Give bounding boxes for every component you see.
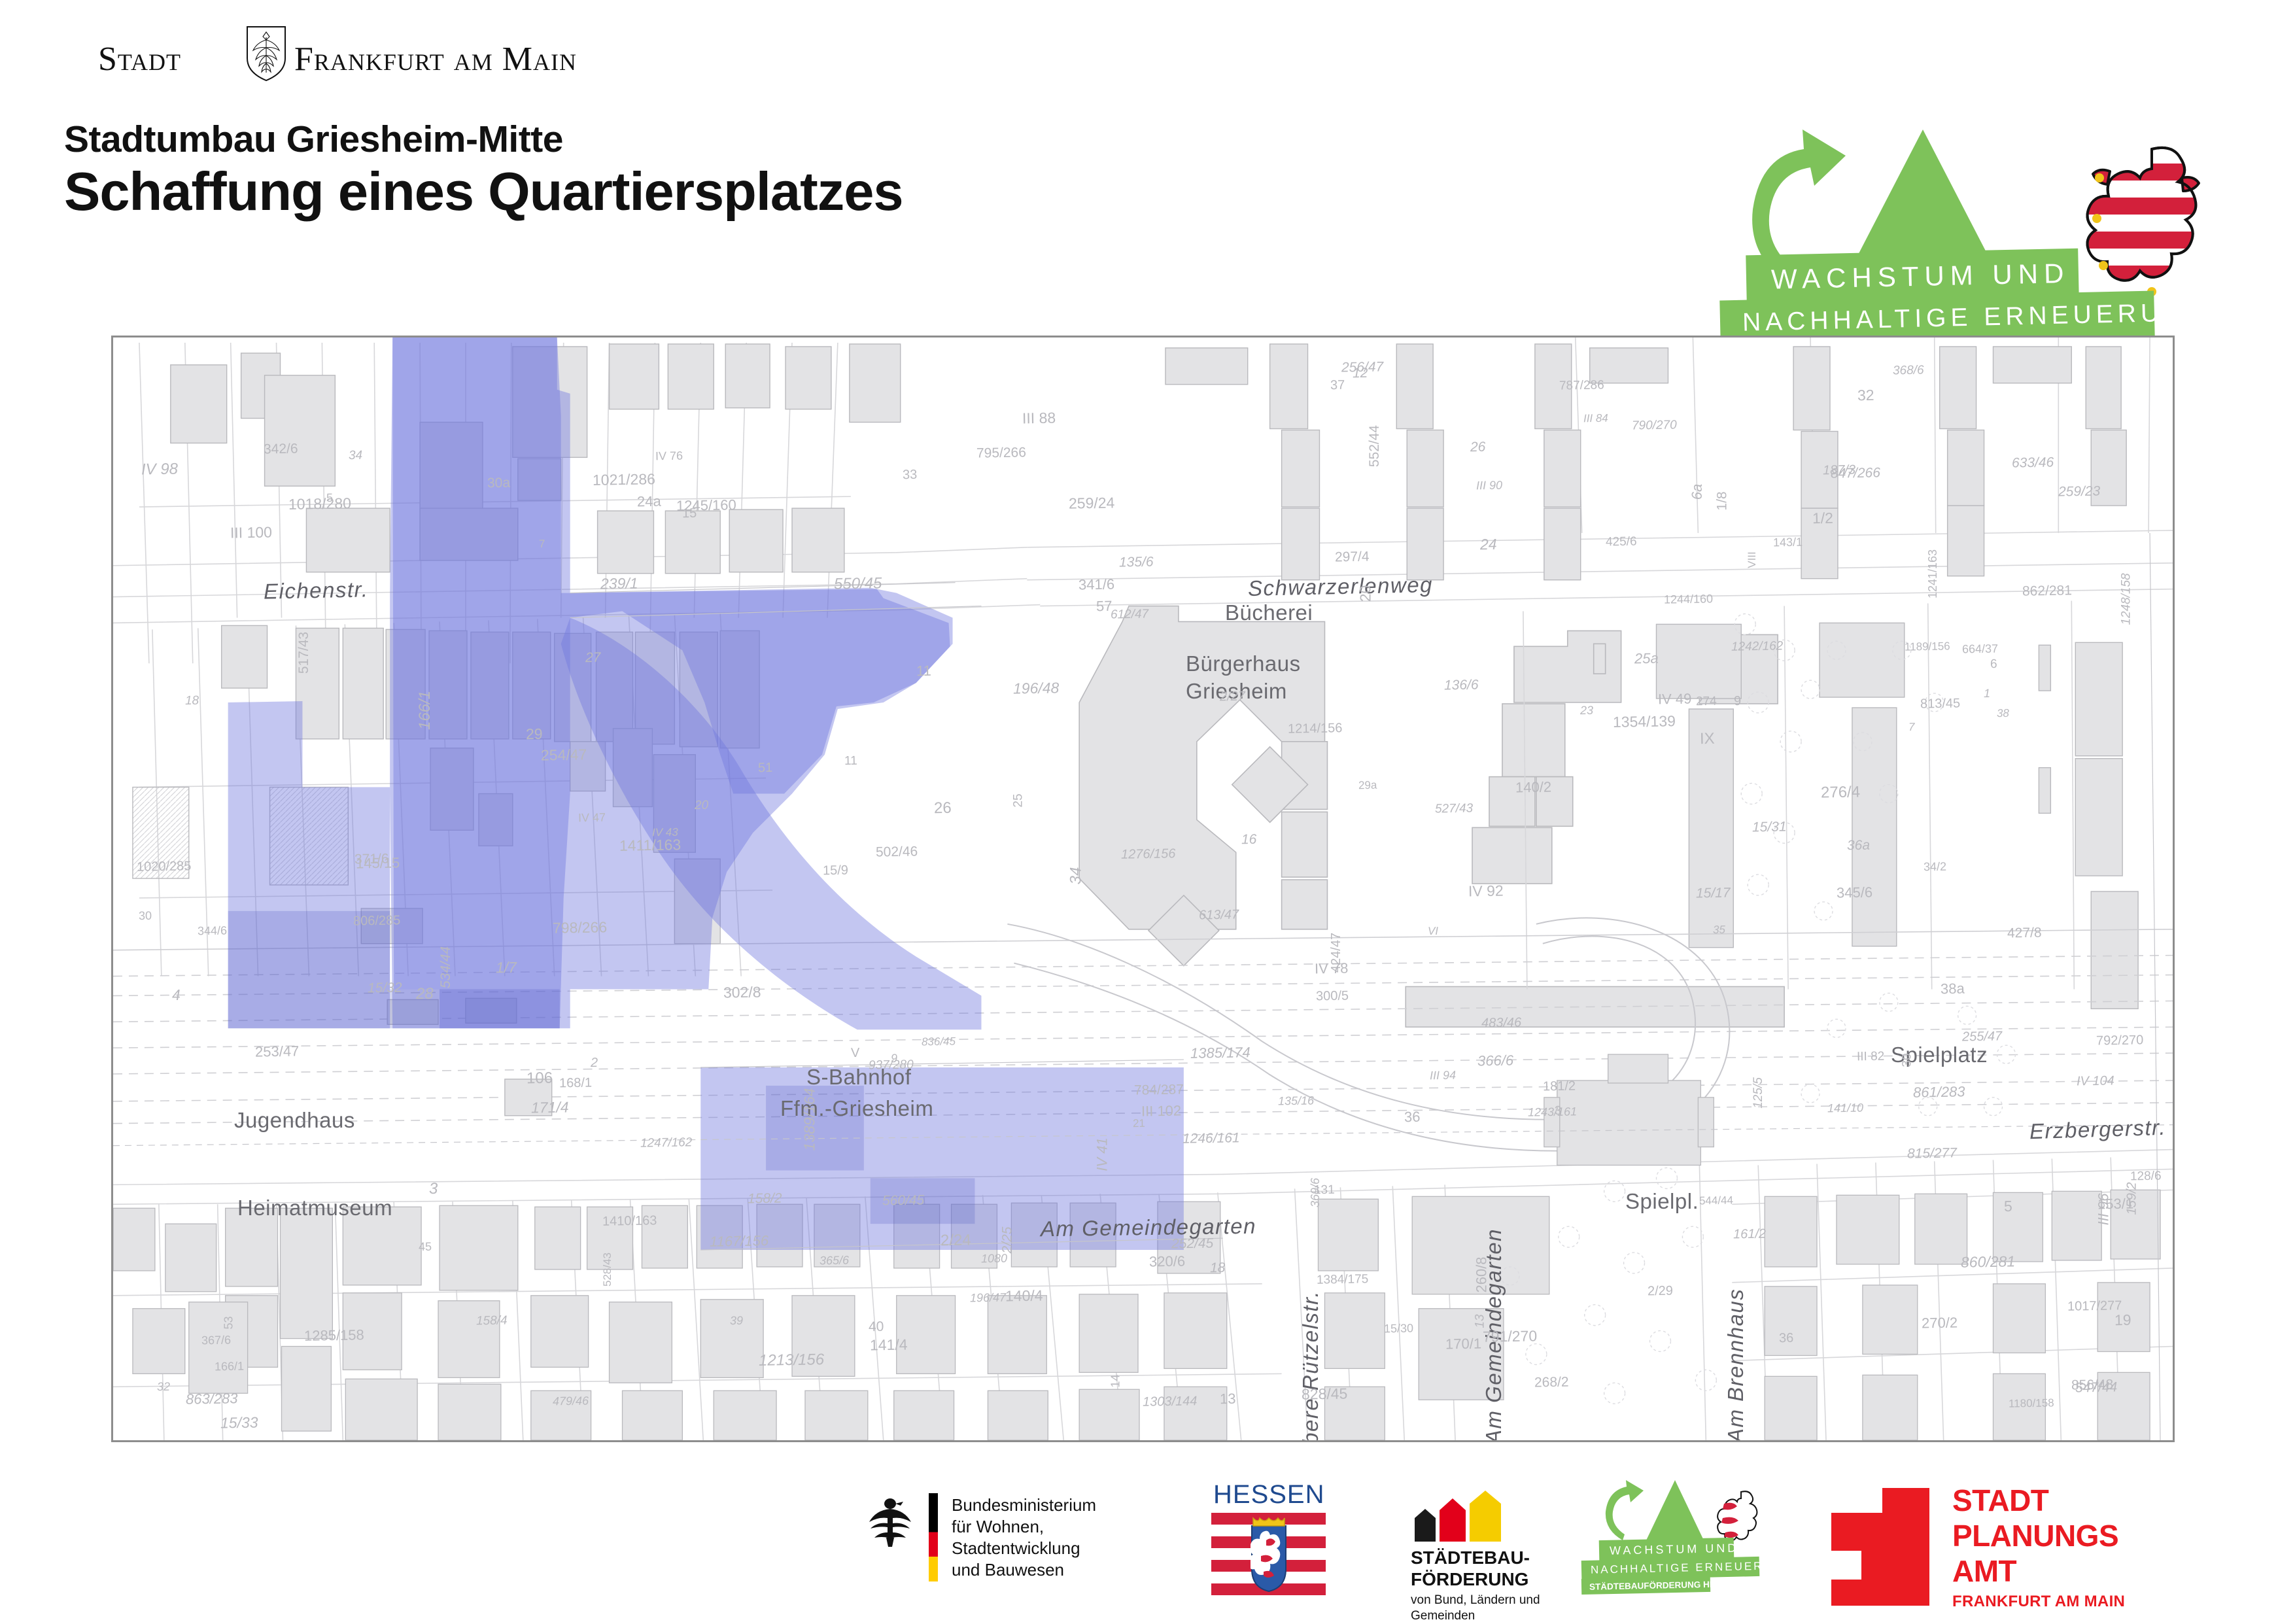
spa-line-1: STADT [1952, 1483, 2118, 1518]
parcel-number: 38a [1941, 980, 1965, 998]
parcel-number: III 84 [1583, 412, 1608, 426]
page-title: Schaffung eines Quartiersplatzes [64, 160, 903, 223]
parcel-number: 1276/156 [1121, 846, 1176, 862]
parcel-number: IV 104 [2077, 1073, 2114, 1089]
parcel-number: IV 47 [578, 811, 606, 825]
bmwsb-line-3: und Bauwesen [952, 1559, 1174, 1581]
parcel-number: 863/283 [186, 1390, 238, 1408]
parcel-number: 36a [1847, 838, 1870, 854]
hessen-lion-shield-icon [1251, 1515, 1287, 1593]
parcel-number: 30 [1901, 1053, 1915, 1067]
place-label-heimatmuseum: Heimatmuseum [237, 1196, 392, 1220]
stadtplanungsamt-mark-icon [1831, 1488, 1929, 1606]
parcel-number: 34 [349, 449, 363, 463]
parcel-number: 9 [891, 1052, 897, 1065]
parcel-number: 26 [1470, 440, 1486, 455]
parcel-number: 784/287 [1134, 1082, 1184, 1098]
parcel-number: 860/281 [1961, 1253, 2016, 1271]
parcel-number: 1017/277 [2067, 1298, 2122, 1314]
parcel-number: 143/1 [1773, 536, 1803, 550]
bmwsb-line-1: Bundesministerium [952, 1494, 1174, 1516]
sbf-line-4: Gemeinden [1411, 1608, 1540, 1624]
parcel-number: 302/8 [723, 983, 761, 1001]
parcel-number: 2 [591, 1056, 598, 1071]
green-badge-line-3: STÄDTEBAUFÖRDERUNG HESSEN [1581, 1576, 1710, 1595]
parcel-number: 254/47 [541, 746, 587, 764]
street-label-eichenstr: Eichenstr. [264, 577, 369, 604]
parcel-number: 15/32 [368, 980, 402, 997]
parcel-number: 341/6 [1078, 576, 1115, 594]
parcel-number: 170/1 [1445, 1336, 1482, 1353]
parcel-number: 140/2 [1515, 779, 1552, 797]
parcel-number: 30a [487, 475, 510, 492]
page-subtitle: Stadtumbau Griesheim-Mitte [64, 118, 563, 161]
parcel-number: 196/48 [1013, 679, 1060, 697]
parcel-number: 270/2 [1922, 1315, 1958, 1332]
parcel-number: 158/2 [748, 1191, 782, 1207]
hessen-logo: HESSEN [1210, 1475, 1334, 1622]
parcel-number: 255/47 [1962, 1029, 2003, 1045]
parcel-number: 166/1 [215, 1360, 244, 1374]
stadt-frankfurt-logo: Stadt Frankfurt am Main [98, 36, 517, 82]
parcel-number: 181/2 [1543, 1079, 1576, 1095]
parcel-number: 33 [903, 468, 918, 483]
parcel-number: 23 [1580, 704, 1593, 717]
parcel-number: 34 [1067, 867, 1085, 885]
parcel-number: IV 98 [141, 460, 179, 479]
hessen-wordmark: HESSEN [1213, 1480, 1325, 1510]
three-houses-icon [1411, 1489, 1502, 1542]
parcel-number: 790/270 [1632, 418, 1677, 433]
parcel-number: 20 [695, 799, 709, 813]
parcel-number: 39 [730, 1314, 743, 1328]
parcel-number: 633/46 [2012, 455, 2054, 471]
parcel-number: 131 [1314, 1183, 1335, 1198]
parcel-number: 365/6 [820, 1254, 849, 1268]
parcel-number: 32 [1857, 387, 1874, 404]
spa-line-3: AMT [1952, 1553, 2118, 1589]
parcel-number: 815/277 [1907, 1145, 1957, 1162]
spa-line-2: PLANUNGS [1952, 1518, 2118, 1553]
parcel-number: 3 [429, 1180, 438, 1198]
parcel-number: 502/46 [876, 844, 918, 860]
parcel-number: 787/286 [1559, 378, 1604, 393]
parcel-number: 11 [916, 663, 931, 680]
parcel-number: 1385/174 [1190, 1044, 1251, 1062]
spa-title: STADT PLANUNGS AMT [1952, 1483, 2118, 1589]
parcel-number: 479/46 [553, 1394, 589, 1409]
bundesadler-icon [867, 1494, 914, 1555]
parcel-number: 260/8 [1474, 1256, 1491, 1292]
parcel-number: 128/6 [2130, 1169, 2162, 1184]
parcel-number: 552/44 [1367, 425, 1383, 467]
bmwsb-text: Bundesministerium für Wohnen, Stadtentwi… [952, 1494, 1174, 1581]
parcel-number: 791/270 [1483, 1327, 1538, 1345]
parcel-number: 6a [1689, 484, 1706, 500]
parcel-number: 34/2 [1924, 860, 1946, 874]
parcel-number: III 100 [230, 523, 272, 542]
parcel-number: 368/6 [1893, 364, 1924, 379]
parcel-number: 4 [172, 986, 181, 1004]
frankfurt-eagle-crest-icon [243, 24, 289, 83]
parcel-number: 1389/164 [801, 1088, 818, 1151]
parcel-number: 1167/156 [710, 1232, 769, 1251]
parcel-number: IV 41 [1094, 1137, 1111, 1171]
parcel-number: 15/30 [1384, 1322, 1413, 1336]
parcel-number: 268/2 [1534, 1375, 1569, 1391]
parcel-number: 7 [1908, 721, 1915, 734]
parcel-number: 252/45 [1171, 1235, 1214, 1252]
parcel-number: 259/24 [1069, 494, 1115, 512]
parcel-number: 135/6 [1119, 555, 1154, 571]
parcel-number: 483/46 [1481, 1015, 1522, 1031]
place-label-jugendhaus: Jugendhaus [234, 1108, 355, 1133]
parcel-number: 1/2 [1812, 510, 1833, 528]
street-label-am-brennhaus: Am Brennhaus [1723, 1288, 1748, 1442]
parcel-number: 5 [2004, 1198, 2012, 1215]
parcel-number: 1214/156 [1288, 721, 1343, 736]
parcel-number: 35 [1713, 924, 1725, 937]
parcel-number: 1021/286 [593, 470, 655, 489]
parcel-number: 1080 [981, 1252, 1007, 1266]
parcel-number: 1247/162 [640, 1135, 693, 1150]
parcel-number: 528/43 [601, 1253, 614, 1287]
parcel-number: 24a [637, 493, 661, 511]
parcel-number: 13 [1220, 1391, 1236, 1408]
parcel-number: 40 [869, 1319, 884, 1335]
bundesministerium-logo: Bundesministerium für Wohnen, Stadtentwi… [867, 1475, 1174, 1622]
parcel-number: 861/283 [1913, 1083, 1965, 1101]
parcel-number: 613/47 [1199, 907, 1239, 923]
parcel-number: 1180/158 [2009, 1396, 2054, 1410]
parcel-number: 15 [682, 506, 697, 521]
parcel-number: 25 [1012, 793, 1026, 807]
spa-sub: FRANKFURT AM MAIN [1952, 1593, 2125, 1611]
sbf-line-2: FÖRDERUNG [1411, 1568, 1530, 1590]
parcel-number: 424/47 [1329, 933, 1344, 973]
place-label-buergerhaus: Bürgerhaus [1186, 651, 1301, 676]
parcel-number: 560/45 [882, 1192, 925, 1209]
parcel-number: 612/47 [1111, 607, 1149, 622]
parcel-number: 36 [1779, 1331, 1794, 1346]
parcel-number: 106 [526, 1069, 553, 1088]
parcel-number: 2/27 [1220, 689, 1245, 705]
hessen-lion-icon [2073, 137, 2211, 307]
parcel-number: 20 [1356, 585, 1374, 602]
bmwsb-line-2: für Wohnen, Stadtentwicklung [952, 1516, 1174, 1559]
parcel-number: 276/4 [1821, 783, 1861, 802]
parcel-number: 140/4 [1005, 1287, 1043, 1305]
sbf-sub: von Bund, Ländern und Gemeinden [1411, 1593, 1540, 1624]
parcel-number: 9 [1734, 694, 1742, 709]
parcel-number: 427/8 [2007, 925, 2042, 942]
staedtebaufoerderung-logo: STÄDTEBAU- FÖRDERUNG von Bund, Ländern u… [1396, 1475, 1547, 1622]
parcel-number: 153/1 [2097, 1196, 2134, 1213]
parcel-number: 19 [2114, 1311, 2131, 1329]
parcel-number: III 102 [1141, 1102, 1182, 1120]
parcel-number: 18 [1210, 1260, 1226, 1276]
page-header: Stadt Frankfurt am Main Stadtumbau Gries… [0, 0, 2295, 327]
parcel-number: 1/8 [1715, 491, 1731, 510]
parcel-number: 1384/175 [1317, 1272, 1369, 1287]
parcel-number: 342/6 [264, 441, 298, 458]
parcel-number: 798/266 [553, 918, 608, 937]
parcel-number: 15/9 [823, 863, 848, 879]
parcel-number: 297/4 [1335, 549, 1370, 566]
stadtplanungsamt-logo: STADT PLANUNGS AMT FRANKFURT AM MAIN [1831, 1475, 2132, 1622]
parcel-number: 166/1 [416, 691, 434, 730]
parcel-number: 366/6 [1477, 1052, 1514, 1070]
parcel-number: 25a [1634, 650, 1659, 668]
logo-word-stadt: Stadt [98, 40, 181, 78]
parcel-number: 125/5 [1751, 1077, 1766, 1109]
parcel-number: III 88 [1022, 409, 1056, 428]
parcel-number: VIII [1746, 551, 1759, 568]
parcel-number: 836/45 [922, 1035, 956, 1049]
street-label-obere-ruetzelstr: Obere Rützelstr. [1298, 1290, 1323, 1442]
sbf-line-3: von Bund, Ländern und [1411, 1593, 1540, 1608]
parcel-number: 1410/163 [602, 1213, 657, 1229]
street-label-schwarzerlenweg: Schwarzerlenweg [1248, 572, 1434, 601]
parcel-number: 1243/161 [1528, 1105, 1577, 1119]
parcel-number: 856/48 [2071, 1377, 2114, 1393]
parcel-number: 171/4 [531, 1098, 569, 1116]
german-flag-bar-icon [929, 1493, 938, 1581]
parcel-number: IV 76 [655, 449, 683, 464]
street-label-erzbergerstr: Erzbergerstr. [2029, 1115, 2166, 1145]
hessen-green-badge-small: WACHSTUM UND NACHHALTIGE ERNEUERUNG STÄD… [1579, 1475, 1795, 1622]
parcel-number: V [851, 1046, 860, 1061]
parcel-number: III 82 [1857, 1050, 1885, 1065]
parcel-number: 1/7 [496, 959, 517, 977]
parcel-number: 1354/139 [1613, 712, 1676, 731]
parcel-number: 168/1 [559, 1076, 592, 1092]
parcel-number: 53 [222, 1316, 236, 1329]
parcel-number: 1285/158 [304, 1326, 364, 1345]
parcel-number: 32 [157, 1380, 170, 1394]
parcel-number: 862/281 [2022, 583, 2072, 599]
parcel-number: 274 [1696, 695, 1717, 710]
parcel-number: 320/6 [1149, 1253, 1186, 1271]
funding-logo-bar: Bundesministerium für Wohnen, Stadtentwi… [0, 1475, 2295, 1622]
parcel-number: 371/6 [354, 852, 389, 868]
parcel-number: 29a [1358, 779, 1377, 792]
parcel-number: 1303/144 [1143, 1394, 1198, 1409]
cadastral-map[interactable]: Eichenstr. Schwarzerlenweg Erzbergerstr.… [111, 336, 2175, 1442]
parcel-number: 1189/156 [1905, 640, 1950, 653]
parcel-number: 527/43 [1435, 801, 1474, 816]
parcel-number: 425/6 [1606, 535, 1637, 550]
sbf-title: STÄDTEBAU- FÖRDERUNG [1411, 1547, 1530, 1590]
parcel-number: 2/29 [1648, 1284, 1673, 1300]
parcel-number: 30 [139, 909, 152, 923]
parcel-number: 1020/285 [137, 859, 192, 874]
parcel-number: 27 [585, 650, 601, 666]
parcel-number: 14 [1109, 1374, 1123, 1387]
parcel-number: 7 [539, 538, 545, 551]
parcel-number: 1246/161 [1182, 1130, 1240, 1147]
parcel-number: 45 [419, 1240, 432, 1254]
parcel-number: 1241/163 [1926, 549, 1940, 598]
parcel-number: 161/2 [1733, 1227, 1766, 1243]
parcel-number: 1213/156 [759, 1351, 825, 1370]
parcel-number: 795/266 [976, 445, 1026, 461]
parcel-number: 29 [526, 725, 543, 743]
parcel-number: 1244/160 [1664, 592, 1713, 606]
parcel-number: 15/31 [1752, 820, 1787, 836]
parcel-number: 256/47 [1341, 359, 1384, 375]
parcel-number: 847/266 [1831, 465, 1880, 481]
parcel-number: 158/4 [476, 1314, 508, 1329]
logo-word-frankfurt-am-main: Frankfurt am Main [294, 40, 577, 78]
parcel-number: 239/1 [600, 574, 638, 593]
parcel-number: 2/24 [940, 1232, 971, 1251]
parcel-number: 253/47 [255, 1043, 300, 1060]
parcel-number: 1242/162 [1731, 639, 1784, 654]
parcel-number: 367/6 [201, 1334, 231, 1348]
parcel-number: 135/16 [1278, 1094, 1314, 1109]
parcel-number: 21 [1133, 1117, 1145, 1130]
place-label-buecherei: Bücherei [1225, 600, 1313, 625]
parcel-number: 36 [1404, 1109, 1421, 1126]
parcel-number: 345/6 [1837, 884, 1873, 902]
parcel-number: 544/44 [1699, 1194, 1733, 1208]
parcel-number: 6 [1990, 657, 1997, 672]
parcel-number: 1 [1984, 687, 1990, 700]
parcel-number: IV 43 [652, 826, 678, 840]
parcel-number: 1018/280 [288, 494, 351, 513]
parcel-number: 24 [1480, 536, 1497, 553]
parcel-number: 196/47 [970, 1291, 1006, 1305]
parcel-number: 15/33 [220, 1413, 258, 1432]
parcel-number: 664/37 [1962, 642, 1998, 657]
parcel-number: 28 [416, 985, 434, 1003]
parcel-number: 38 [1997, 707, 2009, 720]
sbf-line-1: STÄDTEBAU- [1411, 1547, 1530, 1568]
parcel-number: 550/45 [834, 574, 882, 593]
parcel-number: IV 92 [1468, 882, 1504, 901]
parcel-number: 813/45 [1920, 696, 1961, 712]
parcel-number: 11 [844, 754, 857, 769]
parcel-number: 792/270 [2096, 1033, 2144, 1048]
parcel-number: 141/4 [870, 1336, 908, 1354]
parcel-number: III 94 [1430, 1069, 1456, 1083]
parcel-number: 828/45 [1302, 1385, 1348, 1403]
parcel-number: 26 [934, 799, 952, 818]
parcel-number: 1248/158 [2120, 573, 2134, 625]
parcel-number: III 90 [1476, 479, 1502, 493]
parcel-number: 141/10 [1827, 1101, 1863, 1116]
parcel-number: VI [1428, 925, 1438, 938]
parcel-number: 13 [1474, 1314, 1488, 1328]
parcel-number: 16 [1241, 832, 1257, 848]
place-label-spielpl: Spielpl. [1625, 1189, 1699, 1214]
parcel-number: 136/6 [1444, 678, 1479, 694]
parcel-number: 18 [185, 694, 199, 708]
parcel-number: 2/25 [999, 1227, 1015, 1254]
parcel-number: 300/5 [1316, 989, 1349, 1005]
parcel-number: 534/44 [438, 946, 454, 988]
parcel-number: IV 49 [1658, 691, 1692, 708]
parcel-number: 15/17 [1696, 886, 1731, 902]
street-label-am-gemeindegarten: Am Gemeindegarten [1041, 1214, 1256, 1242]
parcel-number: 344/6 [198, 924, 227, 939]
parcel-number: 37 [1330, 378, 1345, 393]
parcel-number: 259/23 [2058, 483, 2101, 500]
parcel-number: 806/285 [353, 913, 401, 929]
parcel-number: 51 [758, 761, 773, 776]
parcel-number: 517/43 [296, 632, 312, 674]
parcel-number: IX [1700, 730, 1715, 748]
